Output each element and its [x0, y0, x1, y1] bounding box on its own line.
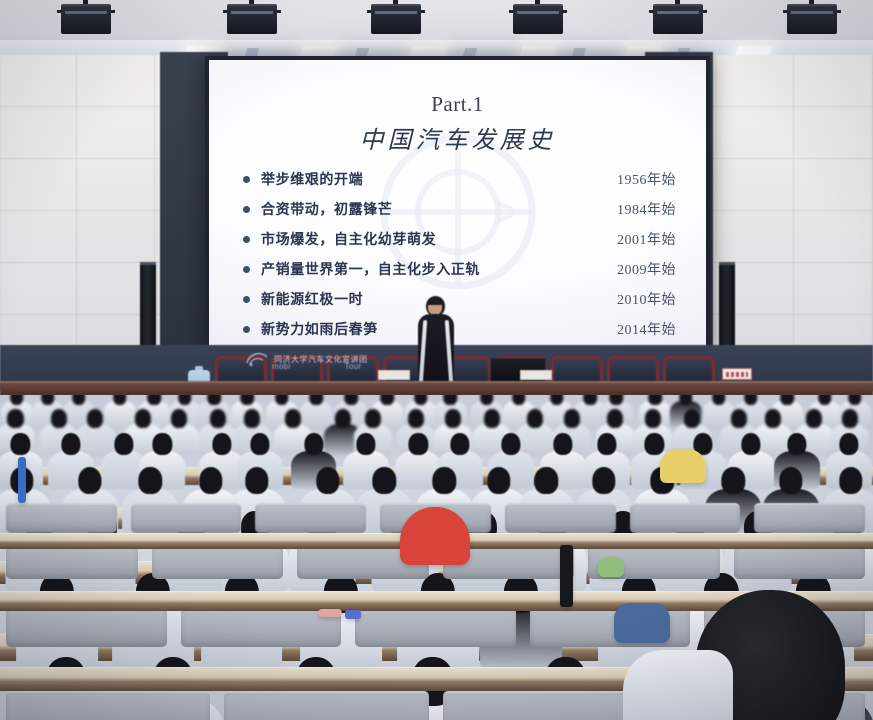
- blue-marker: [345, 610, 361, 619]
- slide-title-block: Part.1 中国汽车发展史: [209, 92, 706, 155]
- blue-lanyard: [18, 457, 26, 503]
- stage-light-icon: [221, 0, 283, 44]
- stage-light-icon: [507, 0, 569, 44]
- stage-chair: [663, 356, 715, 382]
- bullet-year: 2014年始: [617, 319, 682, 339]
- stage-chair: [551, 356, 603, 382]
- slide-part-label: Part.1: [209, 92, 706, 117]
- red-hoodie: [400, 507, 470, 565]
- audience-chair: [224, 691, 428, 720]
- presenter: [415, 296, 457, 386]
- slide-bullet-row: 举步维艰的开端1956年始: [243, 164, 682, 194]
- blue-backpack: [614, 603, 670, 643]
- slide-title-chinese: 中国汽车发展史: [209, 120, 706, 155]
- pink-pencil-case: [318, 609, 342, 617]
- audience-chair: [443, 691, 647, 720]
- bullet-text: 合资带动，初露锋芒: [261, 199, 392, 219]
- bullet-text: 新势力如雨后春笋: [261, 319, 378, 339]
- bullet-text: 举步维艰的开端: [261, 169, 363, 189]
- bullet-text: 新能源红极一时: [261, 289, 363, 309]
- bullet-text: 市场爆发，自主化幼芽萌发: [261, 229, 436, 249]
- slide-bullet-row: 产销量世界第一，自主化步入正轨2009年始: [243, 254, 682, 284]
- bullet-year: 1984年始: [617, 199, 682, 219]
- stage-light-icon: [781, 0, 843, 44]
- bullet-year: 2010年始: [617, 289, 682, 309]
- banner-en-right: Tour: [345, 362, 362, 371]
- yellow-jacket: [660, 449, 706, 483]
- bullet-dot-icon: [243, 296, 250, 303]
- slide-bullet-row: 新势力如雨后春笋2014年始: [243, 314, 682, 344]
- slide-bullet-row: 市场爆发，自主化幼芽萌发2001年始: [243, 224, 682, 254]
- bullet-text: 产销量世界第一，自主化步入正轨: [261, 259, 480, 279]
- green-plush-toy: [598, 557, 624, 577]
- audience-seating: [0, 395, 873, 720]
- lecture-hall-photo: Part.1 中国汽车发展史 举步维艰的开端1956年始合资带动，初露锋芒198…: [0, 0, 873, 720]
- name-card: [520, 370, 552, 380]
- slide-bullet-row: 新能源红极一时2010年始: [243, 284, 682, 314]
- stage-light-icon: [647, 0, 709, 44]
- bullet-year: 2001年始: [617, 229, 682, 249]
- bullet-dot-icon: [243, 176, 250, 183]
- name-card: [378, 370, 410, 380]
- projection-screen: Part.1 中国汽车发展史 举步维艰的开端1956年始合资带动，初露锋芒198…: [209, 60, 706, 352]
- foreground-audience-shoulder: [623, 650, 733, 720]
- audience-chair: [6, 691, 210, 720]
- black-thermos: [560, 545, 573, 607]
- slide-bullet-list: 举步维艰的开端1956年始合资带动，初露锋芒1984年始市场爆发，自主化幼芽萌发…: [243, 164, 682, 344]
- wifi-arc-icon: [245, 352, 269, 367]
- bullet-dot-icon: [243, 266, 250, 273]
- slide-bullet-row: 合资带动，初露锋芒1984年始: [243, 194, 682, 224]
- bullet-dot-icon: [243, 326, 250, 333]
- red-placard: [722, 368, 752, 380]
- stage-chair: [607, 356, 659, 382]
- projection-screen-frame: Part.1 中国汽车发展史 举步维艰的开端1956年始合资带动，初露锋芒198…: [205, 56, 710, 356]
- bullet-year: 1956年始: [617, 169, 682, 189]
- bullet-dot-icon: [243, 236, 250, 243]
- bullet-year: 2009年始: [617, 259, 682, 279]
- bullet-dot-icon: [243, 206, 250, 213]
- stage-light-icon: [365, 0, 427, 44]
- stage-light-icon: [55, 0, 117, 44]
- banner-en-left: mobi: [272, 362, 291, 371]
